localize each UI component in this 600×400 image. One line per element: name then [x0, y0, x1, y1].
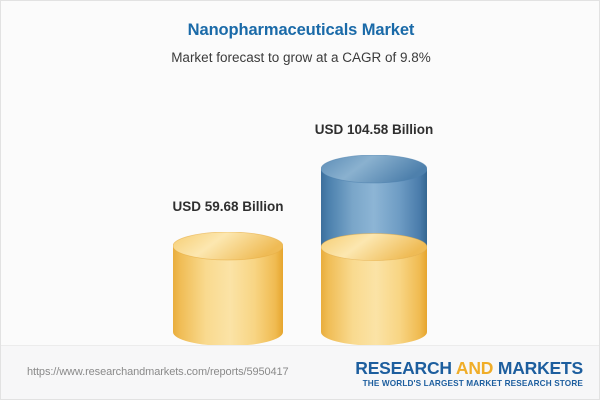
brand-tagline: THE WORLD'S LARGEST MARKET RESEARCH STOR…	[355, 379, 583, 389]
brand-name-part3: MARKETS	[493, 358, 583, 378]
brand-name: RESEARCH AND MARKETS	[355, 358, 583, 378]
chart-footer: https://www.researchandmarkets.com/repor…	[1, 345, 600, 399]
bar-cylinder-2024[interactable]	[173, 232, 283, 346]
bar-group-2030: USD 104.58 Billion	[321, 129, 427, 346]
chart-plot-area: USD 59.68 Billion	[1, 1, 600, 346]
bar-group-2024: USD 59.68 Billion	[173, 206, 283, 346]
brand-logo: RESEARCH AND MARKETS THE WORLD'S LARGEST…	[355, 358, 583, 389]
footer-url[interactable]: https://www.researchandmarkets.com/repor…	[27, 365, 289, 379]
bar-value-label-2024: USD 59.68 Billion	[172, 199, 283, 215]
chart-card: Nanopharmaceuticals Market Market foreca…	[0, 0, 600, 400]
bar-value-label-2030: USD 104.58 Billion	[315, 122, 434, 138]
brand-name-and: AND	[456, 358, 493, 378]
bar-cylinder-2030[interactable]	[321, 155, 427, 346]
cylinder-shape-2030	[321, 155, 427, 346]
cylinder-shape-2024	[173, 232, 283, 346]
brand-name-part1: RESEARCH	[355, 358, 456, 378]
